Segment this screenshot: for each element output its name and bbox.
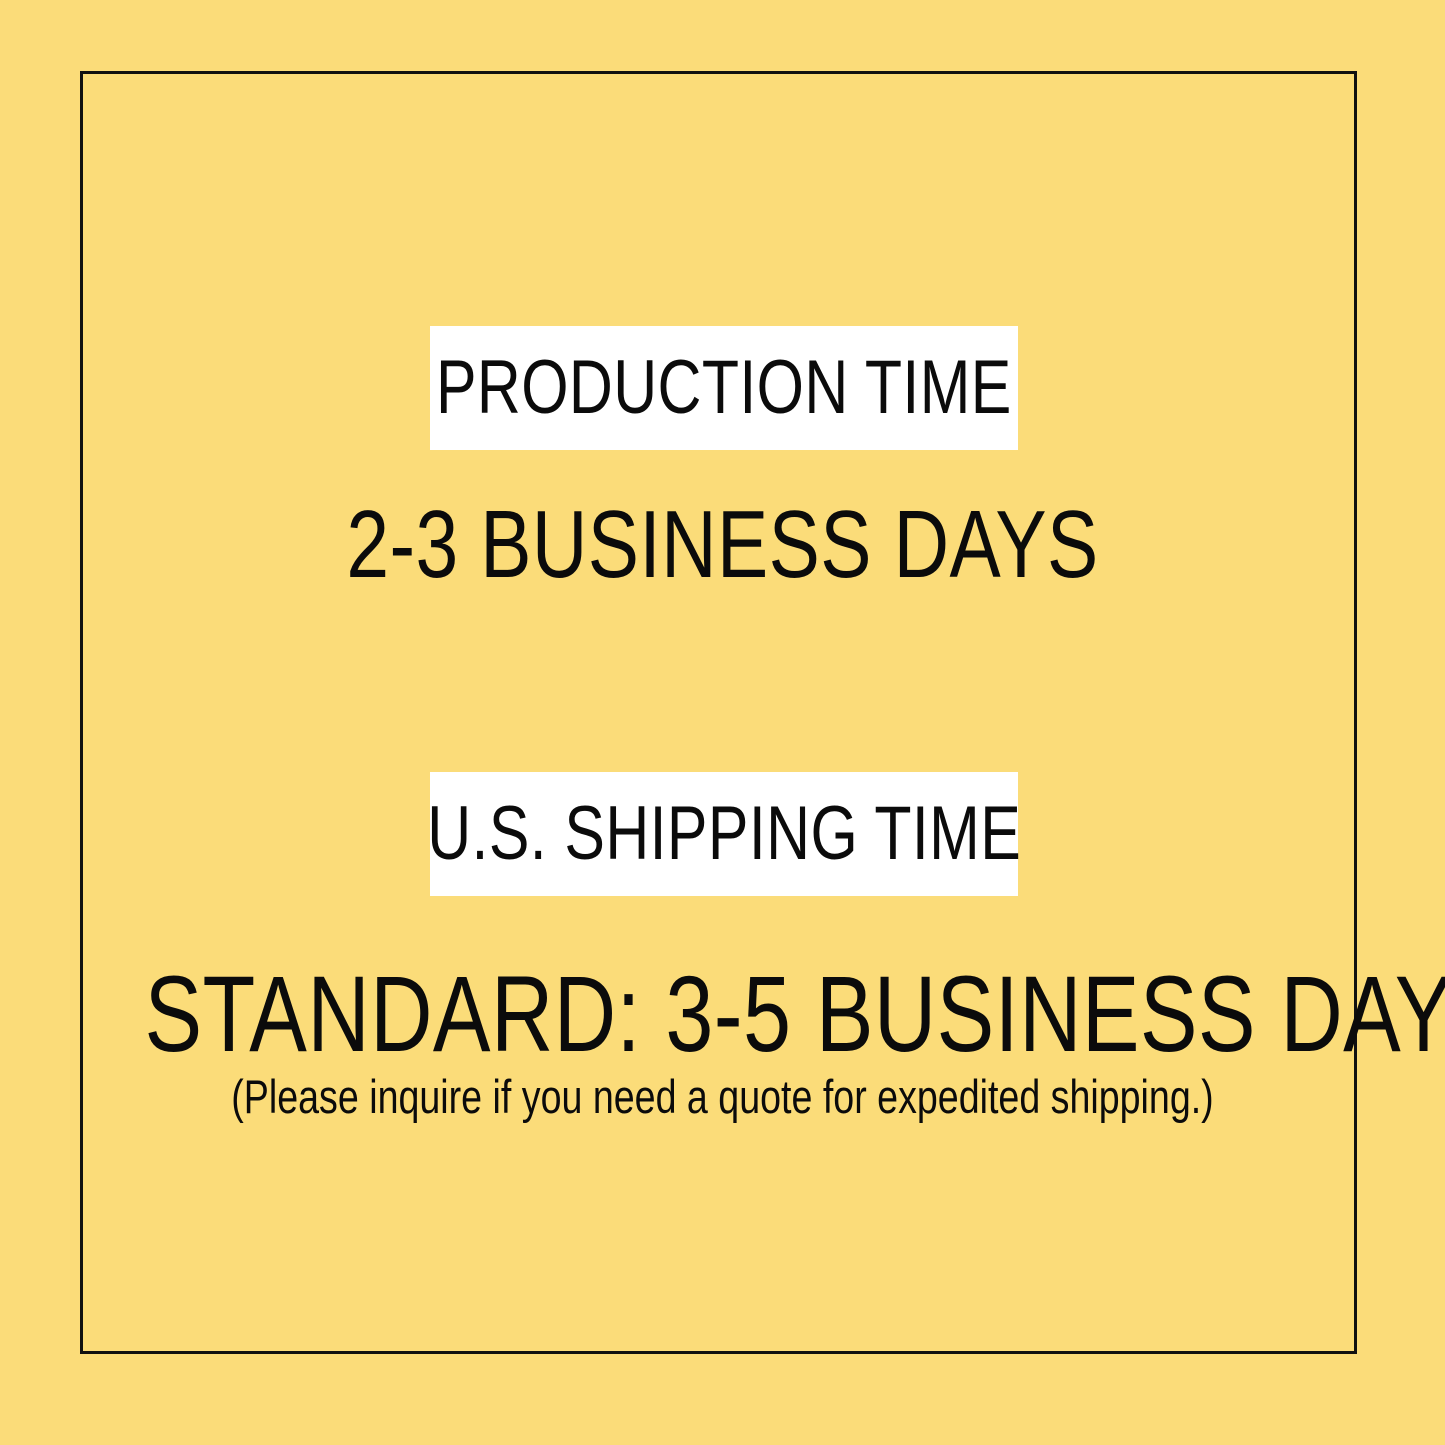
- production-time-heading-label: PRODUCTION TIME: [436, 350, 1012, 426]
- shipping-standard-value: STANDARD: 3-5 BUSINESS DAYS: [145, 960, 1301, 1068]
- shipping-time-heading-label: U.S. SHIPPING TIME: [427, 796, 1021, 872]
- content-stack: PRODUCTION TIME 2-3 BUSINESS DAYS U.S. S…: [0, 0, 1445, 1445]
- production-time-heading-band: PRODUCTION TIME: [430, 326, 1018, 450]
- shipping-info-graphic: PRODUCTION TIME 2-3 BUSINESS DAYS U.S. S…: [0, 0, 1445, 1445]
- expedited-shipping-note: (Please inquire if you need a quote for …: [145, 1073, 1301, 1120]
- production-time-value: 2-3 BUSINESS DAYS: [145, 497, 1301, 593]
- shipping-time-heading-band: U.S. SHIPPING TIME: [430, 772, 1018, 896]
